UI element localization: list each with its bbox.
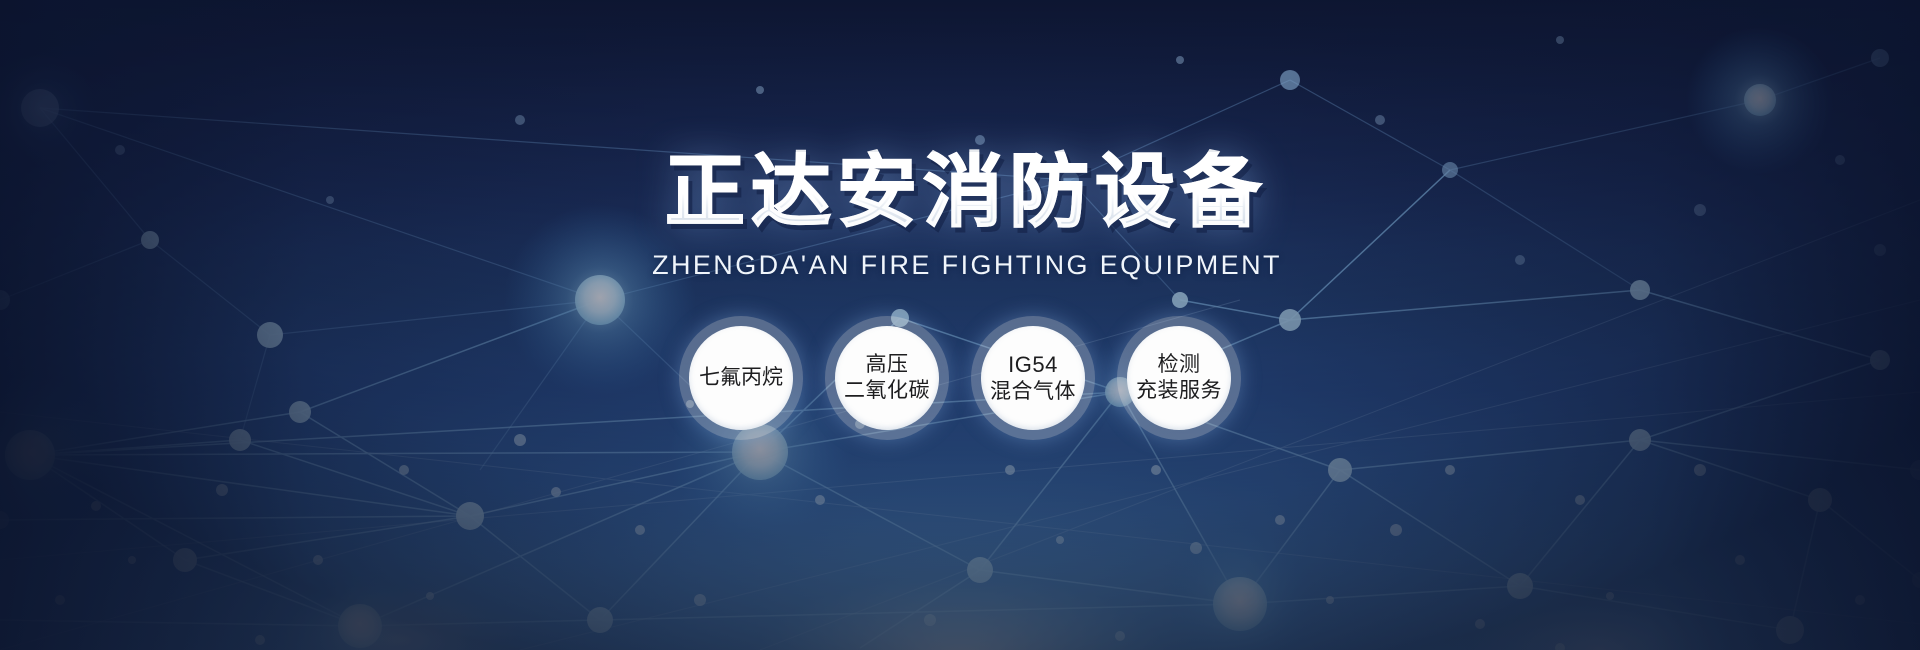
badge-inner: 七氟丙烷: [689, 326, 793, 430]
badge-hfc227ea[interactable]: 七氟丙烷: [679, 316, 803, 440]
badge-testing-filling-service[interactable]: 检测 充装服务: [1117, 316, 1241, 440]
badge-label: 七氟丙烷: [699, 365, 783, 391]
badge-ig54[interactable]: IG54 混合气体: [971, 316, 1095, 440]
page-title: 正达安消防设备: [0, 152, 1920, 232]
badge-inner: 检测 充装服务: [1127, 326, 1231, 430]
badge-label-line1: 高压: [866, 352, 909, 378]
badge-inner: 高压 二氧化碳: [835, 326, 939, 430]
badge-label-line1: 检测: [1158, 352, 1201, 378]
page-subtitle: ZHENGDA'AN FIRE FIGHTING EQUIPMENT: [0, 250, 1920, 281]
banner-content: 正达安消防设备 ZHENGDA'AN FIRE FIGHTING EQUIPME…: [0, 0, 1920, 650]
badge-label-line2: 二氧化碳: [844, 378, 930, 404]
hero-banner: 正达安消防设备 ZHENGDA'AN FIRE FIGHTING EQUIPME…: [0, 0, 1920, 650]
badge-label-line2: 混合气体: [990, 379, 1076, 405]
title-block: 正达安消防设备 ZHENGDA'AN FIRE FIGHTING EQUIPME…: [0, 152, 1920, 281]
badge-high-pressure-co2[interactable]: 高压 二氧化碳: [825, 316, 949, 440]
badge-list: 七氟丙烷 高压 二氧化碳 IG54 混合气体 检测 充装服务: [679, 316, 1241, 440]
badge-label-line1: IG54: [1008, 351, 1058, 379]
badge-label-line2: 充装服务: [1136, 378, 1222, 404]
badge-inner: IG54 混合气体: [981, 326, 1085, 430]
